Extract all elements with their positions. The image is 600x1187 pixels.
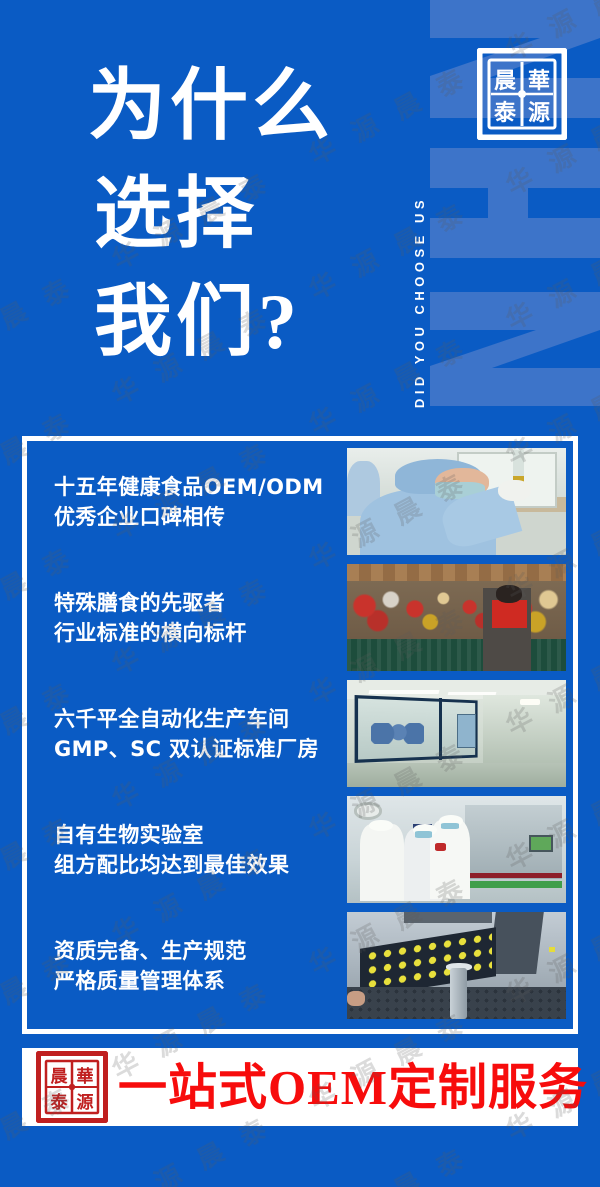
page-title-line-2: 选择 xyxy=(94,160,388,268)
svg-text:源: 源 xyxy=(528,101,550,126)
feature-line-2: 组方配比均达到最佳效果 xyxy=(54,850,338,880)
feature-row[interactable]: 六千平全自动化生产车间 GMP、SC 双认证标准厂房 xyxy=(34,680,566,787)
feature-text-block: 资质完备、生产规范 严格质量管理体系 xyxy=(34,912,338,1019)
production-line-staff-photo xyxy=(347,796,566,903)
vertical-caption-text: DID YOU CHOOSE US xyxy=(412,196,427,408)
feature-line-2: 行业标准的横向标杆 xyxy=(54,618,338,648)
feature-line-2: 严格质量管理体系 xyxy=(54,966,338,996)
conference-audience-photo xyxy=(347,564,566,671)
feature-text-block: 自有生物实验室 组方配比均达到最佳效果 xyxy=(34,796,338,903)
feature-line-1: 资质完备、生产规范 xyxy=(54,936,338,966)
cleanroom-corridor-photo xyxy=(347,680,566,787)
page-title: 为什么 选择 我们? xyxy=(88,52,388,376)
page-title-line-3: 我们? xyxy=(94,268,388,376)
feature-photo xyxy=(347,680,566,787)
feature-line-2: 优秀企业口碑相传 xyxy=(54,502,338,532)
company-seal-bottom-icon: 華 源 晨 泰 xyxy=(36,1051,108,1123)
feature-line-1: 十五年健康食品OEM/ODM xyxy=(54,472,338,502)
svg-text:泰: 泰 xyxy=(493,101,517,126)
svg-text:華: 華 xyxy=(528,69,550,94)
svg-text:晨: 晨 xyxy=(494,69,517,94)
feature-row[interactable]: 资质完备、生产规范 严格质量管理体系 xyxy=(34,912,566,1019)
feature-list: 十五年健康食品OEM/ODM 优秀企业口碑相传 特殊膳食的先驱者 行业标准的横向… xyxy=(34,448,566,1022)
feature-row[interactable]: 十五年健康食品OEM/ODM 优秀企业口碑相传 xyxy=(34,448,566,555)
svg-text:晨: 晨 xyxy=(51,1067,69,1087)
svg-text:泰: 泰 xyxy=(51,1092,69,1113)
feature-row[interactable]: 特殊膳食的先驱者 行业标准的横向标杆 xyxy=(34,564,566,671)
vertical-caption: DID YOU CHOOSE US xyxy=(402,8,436,408)
blister-packing-machine-photo xyxy=(347,912,566,1019)
svg-text:華: 華 xyxy=(77,1067,94,1087)
feature-line-2: GMP、SC 双认证标准厂房 xyxy=(54,734,338,764)
feature-photo xyxy=(347,564,566,671)
feature-line-1: 特殊膳食的先驱者 xyxy=(54,588,338,618)
feature-photo xyxy=(347,912,566,1019)
feature-text-block: 十五年健康食品OEM/ODM 优秀企业口碑相传 xyxy=(34,448,338,555)
feature-line-1: 六千平全自动化生产车间 xyxy=(54,704,338,734)
feature-line-1: 自有生物实验室 xyxy=(54,820,338,850)
svg-text:源: 源 xyxy=(77,1092,94,1113)
poster-root: DID YOU CHOOSE US 華 源 晨 泰 为什么 选择 我们? 十五 xyxy=(0,0,600,1187)
feature-text-block: 六千平全自动化生产车间 GMP、SC 双认证标准厂房 xyxy=(34,680,338,787)
feature-text-block: 特殊膳食的先驱者 行业标准的横向标杆 xyxy=(34,564,338,671)
cta-text: 一站式OEM定制服务 xyxy=(118,1063,588,1112)
cta-banner[interactable]: 華 源 晨 泰 一站式OEM定制服务 xyxy=(22,1048,578,1126)
lab-technician-photo xyxy=(347,448,566,555)
page-title-line-1: 为什么 xyxy=(88,52,388,160)
company-seal-top-icon: 華 源 晨 泰 xyxy=(477,48,567,140)
feature-photo xyxy=(347,796,566,903)
feature-row[interactable]: 自有生物实验室 组方配比均达到最佳效果 xyxy=(34,796,566,903)
feature-photo xyxy=(347,448,566,555)
